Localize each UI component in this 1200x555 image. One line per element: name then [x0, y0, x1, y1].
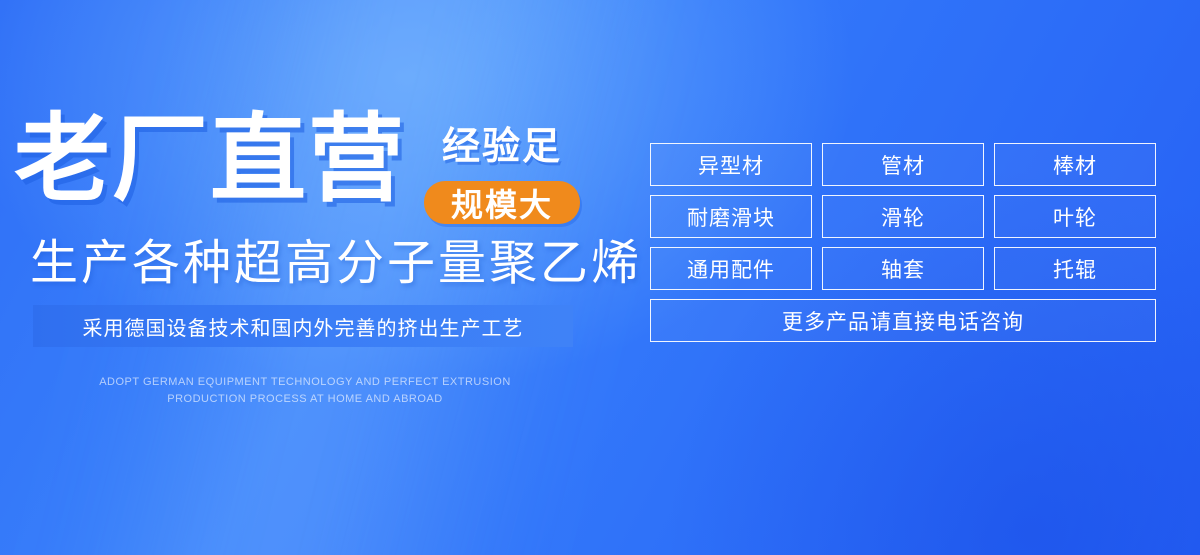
english-subtitle-line-2: PRODUCTION PROCESS AT HOME AND ABROAD	[0, 391, 610, 408]
badge-stack: 经验足 规模大	[424, 124, 594, 224]
product-box-tongyongpeijian[interactable]: 通用配件	[650, 247, 812, 290]
main-headline: 老厂直营	[14, 112, 406, 208]
product-row-2: 耐磨滑块 滑轮 叶轮	[650, 195, 1156, 238]
product-box-naimohuakuai[interactable]: 耐磨滑块	[650, 195, 812, 238]
product-row-3: 通用配件 轴套 托辊	[650, 247, 1156, 290]
sub-headline: 生产各种超高分子量聚乙烯	[30, 238, 642, 291]
product-box-bangcai[interactable]: 棒材	[994, 143, 1156, 186]
tagline-text: 采用德国设备技术和国内外完善的挤出生产工艺	[83, 312, 524, 341]
badge-experience: 经验足	[424, 124, 580, 170]
headline-block: 老厂直营 经验足 规模大 生产各种超高分子量聚乙烯 采用德国设备技术和国内外完善…	[0, 0, 620, 555]
badge-scale-pill: 规模大	[424, 181, 580, 224]
product-box-tuogun[interactable]: 托辊	[994, 247, 1156, 290]
english-subtitle: ADOPT GERMAN EQUIPMENT TECHNOLOGY AND PE…	[0, 374, 610, 408]
promo-banner: 老厂直营 经验足 规模大 生产各种超高分子量聚乙烯 采用德国设备技术和国内外完善…	[0, 0, 1200, 555]
product-box-hualun[interactable]: 滑轮	[822, 195, 984, 238]
product-category-grid: 异型材 管材 棒材 耐磨滑块 滑轮 叶轮 通用配件 轴套 托辊 更多产品请直接电…	[650, 143, 1156, 342]
product-box-zhoutao[interactable]: 轴套	[822, 247, 984, 290]
product-box-guancai[interactable]: 管材	[822, 143, 984, 186]
tagline-bar: 采用德国设备技术和国内外完善的挤出生产工艺	[33, 305, 573, 347]
product-row-1: 异型材 管材 棒材	[650, 143, 1156, 186]
english-subtitle-line-1: ADOPT GERMAN EQUIPMENT TECHNOLOGY AND PE…	[0, 374, 610, 391]
product-box-contact-for-more[interactable]: 更多产品请直接电话咨询	[650, 299, 1156, 342]
product-box-yelun[interactable]: 叶轮	[994, 195, 1156, 238]
product-box-yixingcai[interactable]: 异型材	[650, 143, 812, 186]
product-row-4: 更多产品请直接电话咨询	[650, 299, 1156, 342]
